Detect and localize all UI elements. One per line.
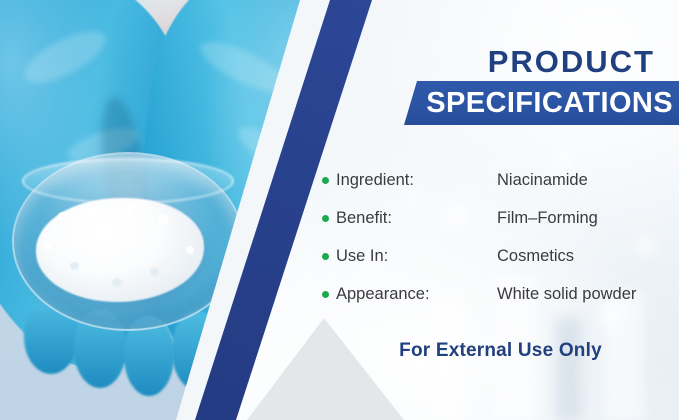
- spec-label: Ingredient:: [336, 171, 414, 190]
- bullet-icon: [322, 215, 329, 222]
- product-specification-card: PRODUCT SPECIFICATIONS Ingredient: Niaci…: [0, 0, 679, 420]
- page-title-specifications: SPECIFICATIONS: [418, 83, 679, 123]
- specifications-panel: PRODUCT SPECIFICATIONS Ingredient: Niaci…: [0, 0, 679, 420]
- spec-value: White solid powder: [497, 285, 636, 304]
- spec-value: Niacinamide: [497, 171, 588, 190]
- page-title-product: PRODUCT: [488, 46, 655, 77]
- spec-value: Film–Forming: [497, 209, 598, 228]
- spec-row-benefit: Benefit: Film–Forming: [322, 199, 679, 237]
- spec-row-ingredient: Ingredient: Niacinamide: [322, 161, 679, 199]
- spec-label: Appearance:: [336, 285, 430, 304]
- spec-label: Use In:: [336, 247, 388, 266]
- spec-label: Benefit:: [336, 209, 392, 228]
- specifications-list: Ingredient: Niacinamide Benefit: Film–Fo…: [322, 161, 679, 313]
- bullet-icon: [322, 177, 329, 184]
- spec-row-appearance: Appearance: White solid powder: [322, 275, 679, 313]
- bullet-icon: [322, 253, 329, 260]
- spec-row-use-in: Use In: Cosmetics: [322, 237, 679, 275]
- external-use-notice: For External Use Only: [322, 340, 679, 362]
- spec-value: Cosmetics: [497, 247, 574, 266]
- bullet-icon: [322, 291, 329, 298]
